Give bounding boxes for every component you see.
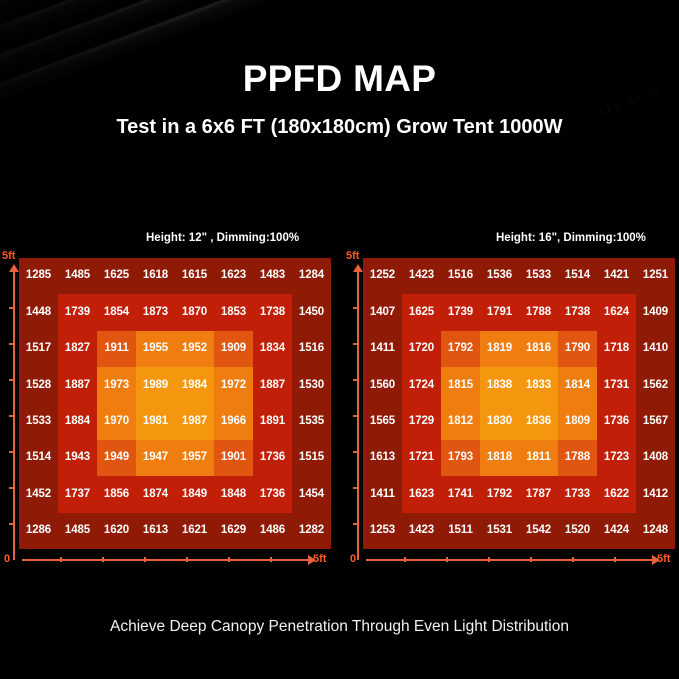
- ppfd-cell: 1955: [136, 331, 175, 367]
- ppfd-cell: 1834: [253, 331, 292, 367]
- ppfd-cell: 1981: [136, 404, 175, 440]
- ppfd-cell: 1412: [636, 476, 675, 512]
- ppfd-cell: 1408: [636, 440, 675, 476]
- ppfd-cell: 1987: [175, 404, 214, 440]
- page-title: PPFD MAP: [0, 58, 679, 100]
- ppfd-cell: 1952: [175, 331, 214, 367]
- ppfd-cell: 1973: [97, 367, 136, 403]
- ppfd-cell: 1853: [214, 294, 253, 330]
- ppfd-cell: 1818: [480, 440, 519, 476]
- ppfd-cell: 1448: [19, 294, 58, 330]
- x-tick: [144, 557, 146, 562]
- y-tick: [9, 487, 14, 489]
- ppfd-cell: 1724: [402, 367, 441, 403]
- y-tick: [353, 487, 358, 489]
- y-tick: [9, 451, 14, 453]
- ppfd-cell: 1516: [441, 258, 480, 294]
- ppfd-cell: 1792: [441, 331, 480, 367]
- ppfd-cell: 1873: [136, 294, 175, 330]
- ppfd-cell: 1623: [214, 258, 253, 294]
- ppfd-cell: 1819: [480, 331, 519, 367]
- ppfd-cell: 1514: [19, 440, 58, 476]
- ppfd-cell: 1738: [253, 294, 292, 330]
- x-axis-origin-label-right: 0: [350, 553, 356, 565]
- ppfd-cell: 1285: [19, 258, 58, 294]
- ppfd-cell: 1411: [363, 331, 402, 367]
- ppfd-cell: 1736: [253, 440, 292, 476]
- ppfd-cell: 1972: [214, 367, 253, 403]
- ppfd-cell: 1947: [136, 440, 175, 476]
- ppfd-cell: 1409: [636, 294, 675, 330]
- ppfd-cell: 1736: [597, 404, 636, 440]
- ppfd-cell: 1483: [253, 258, 292, 294]
- y-tick: [9, 379, 14, 381]
- ppfd-cell: 1454: [292, 476, 331, 512]
- ppfd-cell: 1535: [292, 404, 331, 440]
- page-subtitle: Test in a 6x6 FT (180x180cm) Grow Tent 1…: [0, 116, 679, 139]
- ppfd-cell: 1623: [402, 476, 441, 512]
- ppfd-cell: 1966: [214, 404, 253, 440]
- ppfd-cell: 1424: [597, 513, 636, 549]
- x-tick: [228, 557, 230, 562]
- ppfd-cell: 1856: [97, 476, 136, 512]
- x-tick: [530, 557, 532, 562]
- ppfd-cell: 1790: [558, 331, 597, 367]
- ppfd-cell: 1718: [597, 331, 636, 367]
- ppfd-cell: 1511: [441, 513, 480, 549]
- ppfd-cell: 1620: [97, 513, 136, 549]
- ppfd-cell: 1833: [519, 367, 558, 403]
- x-tick: [102, 557, 104, 562]
- ppfd-cell: 1624: [597, 294, 636, 330]
- x-axis-arrow-left: [308, 555, 316, 565]
- ppfd-cell: 1253: [363, 513, 402, 549]
- ppfd-cell: 1838: [480, 367, 519, 403]
- ppfd-cell: 1423: [402, 258, 441, 294]
- ppfd-cell: 1286: [19, 513, 58, 549]
- ppfd-cell: 1514: [558, 258, 597, 294]
- ppfd-cell: 1720: [402, 331, 441, 367]
- y-tick: [353, 307, 358, 309]
- ppfd-cell: 1729: [402, 404, 441, 440]
- ppfd-cell: 1836: [519, 404, 558, 440]
- ppfd-cell: 1733: [558, 476, 597, 512]
- ppfd-cell: 1788: [519, 294, 558, 330]
- ppfd-cell: 1989: [136, 367, 175, 403]
- ppfd-cell: 1613: [136, 513, 175, 549]
- ppfd-cell: 1854: [97, 294, 136, 330]
- panel-caption-right: Height: 16", Dimming:100%: [496, 232, 646, 244]
- ppfd-cell: 1625: [402, 294, 441, 330]
- x-axis-line-right: [366, 559, 654, 561]
- ppfd-cell: 1739: [441, 294, 480, 330]
- y-tick: [9, 343, 14, 345]
- ppfd-cell: 1533: [519, 258, 558, 294]
- ppfd-cell: 1251: [636, 258, 675, 294]
- ppfd-cell: 1909: [214, 331, 253, 367]
- ppfd-cell: 1520: [558, 513, 597, 549]
- y-axis-top-label-right: 5ft: [346, 250, 359, 262]
- ppfd-cell: 1621: [175, 513, 214, 549]
- ppfd-cell: 1814: [558, 367, 597, 403]
- ppfd-cell: 1282: [292, 513, 331, 549]
- ppfd-cell: 1887: [253, 367, 292, 403]
- x-tick: [572, 557, 574, 562]
- x-tick: [270, 557, 272, 562]
- ppfd-cell: 1870: [175, 294, 214, 330]
- ppfd-cell: 1542: [519, 513, 558, 549]
- ppfd-cell: 1723: [597, 440, 636, 476]
- ppfd-cell: 1815: [441, 367, 480, 403]
- ppfd-cell: 1421: [597, 258, 636, 294]
- ppfd-cell: 1911: [97, 331, 136, 367]
- ppfd-cell: 1849: [175, 476, 214, 512]
- ppfd-cell: 1984: [175, 367, 214, 403]
- ppfd-cell: 1517: [19, 331, 58, 367]
- ppfd-cell: 1407: [363, 294, 402, 330]
- x-tick: [614, 557, 616, 562]
- x-tick: [446, 557, 448, 562]
- ppfd-cell: 1793: [441, 440, 480, 476]
- ppfd-cell: 1615: [175, 258, 214, 294]
- ppfd-cell: 1738: [558, 294, 597, 330]
- ppfd-cell: 1816: [519, 331, 558, 367]
- ppfd-cell: 1533: [19, 404, 58, 440]
- ppfd-cell: 1736: [253, 476, 292, 512]
- ppfd-cell: 1901: [214, 440, 253, 476]
- ppfd-cell: 1731: [597, 367, 636, 403]
- ppfd-cell: 1792: [480, 476, 519, 512]
- ppfd-cell: 1891: [253, 404, 292, 440]
- y-tick: [353, 523, 358, 525]
- ppfd-heatmap-right: 1252142315161536153315141421125114071625…: [363, 258, 675, 549]
- ppfd-cell: 1560: [363, 367, 402, 403]
- ppfd-cell: 1530: [292, 367, 331, 403]
- y-tick: [353, 415, 358, 417]
- ppfd-cell: 1970: [97, 404, 136, 440]
- ppfd-cell: 1811: [519, 440, 558, 476]
- panel-caption-left: Height: 12" , Dimming:100%: [146, 232, 299, 244]
- x-tick: [186, 557, 188, 562]
- y-tick: [9, 415, 14, 417]
- ppfd-cell: 1486: [253, 513, 292, 549]
- ppfd-cell: 1737: [58, 476, 97, 512]
- ppfd-cell: 1562: [636, 367, 675, 403]
- ppfd-cell: 1739: [58, 294, 97, 330]
- ppfd-cell: 1848: [214, 476, 253, 512]
- x-tick: [60, 557, 62, 562]
- ppfd-cell: 1884: [58, 404, 97, 440]
- ppfd-cell: 1874: [136, 476, 175, 512]
- y-tick: [353, 451, 358, 453]
- ppfd-cell: 1949: [97, 440, 136, 476]
- y-tick: [353, 343, 358, 345]
- ppfd-cell: 1516: [292, 331, 331, 367]
- ppfd-cell: 1284: [292, 258, 331, 294]
- y-tick: [9, 307, 14, 309]
- ppfd-cell: 1887: [58, 367, 97, 403]
- ppfd-cell: 1450: [292, 294, 331, 330]
- ppfd-cell: 1721: [402, 440, 441, 476]
- ppfd-cell: 1565: [363, 404, 402, 440]
- footer-note: Achieve Deep Canopy Penetration Through …: [0, 618, 679, 636]
- x-axis-line-left: [22, 559, 310, 561]
- x-tick: [404, 557, 406, 562]
- ppfd-cell: 1423: [402, 513, 441, 549]
- y-tick: [353, 379, 358, 381]
- y-tick: [9, 523, 14, 525]
- ppfd-cell: 1791: [480, 294, 519, 330]
- ppfd-cell: 1410: [636, 331, 675, 367]
- x-axis-arrow-right: [652, 555, 660, 565]
- ppfd-cell: 1827: [58, 331, 97, 367]
- ppfd-heatmap-left: 1285148516251618161516231483128414481739…: [19, 258, 331, 549]
- ppfd-cell: 1411: [363, 476, 402, 512]
- ppfd-cell: 1830: [480, 404, 519, 440]
- ppfd-cell: 1812: [441, 404, 480, 440]
- ppfd-cell: 1741: [441, 476, 480, 512]
- ppfd-cell: 1618: [136, 258, 175, 294]
- y-axis-top-label-left: 5ft: [2, 250, 15, 262]
- ppfd-cell: 1531: [480, 513, 519, 549]
- x-axis-origin-label-left: 0: [4, 553, 10, 565]
- ppfd-cell: 1567: [636, 404, 675, 440]
- ppfd-cell: 1452: [19, 476, 58, 512]
- ppfd-cell: 1252: [363, 258, 402, 294]
- ppfd-cell: 1788: [558, 440, 597, 476]
- ppfd-cell: 1248: [636, 513, 675, 549]
- ppfd-cell: 1957: [175, 440, 214, 476]
- ppfd-cell: 1515: [292, 440, 331, 476]
- x-tick: [488, 557, 490, 562]
- ppfd-cell: 1485: [58, 258, 97, 294]
- ppfd-cell: 1528: [19, 367, 58, 403]
- ppfd-cell: 1485: [58, 513, 97, 549]
- ppfd-cell: 1622: [597, 476, 636, 512]
- ppfd-cell: 1787: [519, 476, 558, 512]
- ppfd-cell: 1629: [214, 513, 253, 549]
- ppfd-cell: 1613: [363, 440, 402, 476]
- ppfd-cell: 1943: [58, 440, 97, 476]
- ppfd-cell: 1536: [480, 258, 519, 294]
- ppfd-cell: 1625: [97, 258, 136, 294]
- ppfd-cell: 1809: [558, 404, 597, 440]
